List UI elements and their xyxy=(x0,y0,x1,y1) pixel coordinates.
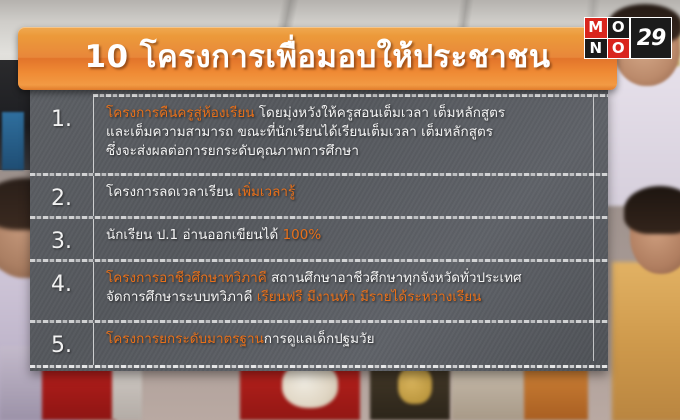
list-item-body: โครงการยกระดับมาตรฐานการดูแลเด็กปฐมวัย xyxy=(93,323,608,365)
highlight-text: โครงการคืนครูสู่ห้องเรียน xyxy=(106,105,255,121)
plain-text: และเต็มความสามารถ ขณะที่นักเรียนได้เรียน… xyxy=(106,124,493,140)
list-item-number: 5. xyxy=(30,323,93,358)
list-item-line: และเต็มความสามารถ ขณะที่นักเรียนได้เรียน… xyxy=(106,123,594,142)
page-title: 10 โครงการเพื่อมอบให้ประชาชน xyxy=(84,42,550,76)
list-item-line: โครงการอาชีวศึกษาทวิภาคี สถานศึกษาอาชีวศ… xyxy=(106,269,594,288)
background-blue-panel xyxy=(2,112,24,170)
plain-text: นักเรียน ป.1 อ่านออกเขียนได้ xyxy=(106,227,283,243)
list-item-number: 1. xyxy=(30,97,93,132)
panel-bottom-border xyxy=(30,365,608,368)
list-item: 1. โครงการคืนครูสู่ห้องเรียน โดยมุ่งหวัง… xyxy=(30,97,608,173)
list-item-number: 4. xyxy=(30,262,93,297)
highlight-text: 100% xyxy=(283,227,322,243)
list-item-body: โครงการอาชีวศึกษาทวิภาคี สถานศึกษาอาชีวศ… xyxy=(93,262,608,320)
highlight-text: โครงการยกระดับมาตรฐาน xyxy=(106,331,264,347)
plain-text: การดูแลเด็กปฐมวัย xyxy=(264,331,375,347)
logo-letter-m: M xyxy=(585,18,607,38)
highlight-text: เพิ่มเวลารู้ xyxy=(238,184,296,200)
list-item: 3. นักเรียน ป.1 อ่านออกเขียนได้ 100% xyxy=(30,219,608,259)
list-item: 4. โครงการอาชีวศึกษาทวิภาคี สถานศึกษาอาช… xyxy=(30,262,608,320)
list-item-body: โครงการคืนครูสู่ห้องเรียน โดยมุ่งหวังให้… xyxy=(93,97,608,173)
list-item-body: นักเรียน ป.1 อ่านออกเขียนได้ 100% xyxy=(93,219,608,259)
list-item-body: โครงการลดเวลาเรียน เพิ่มเวลารู้ xyxy=(93,176,608,216)
logo-letter-n: N xyxy=(585,39,607,59)
plain-text: จัดการศึกษาระบบทวิภาคี xyxy=(106,289,257,305)
logo-letter-o-bottom: O xyxy=(608,39,630,59)
highlight-text: โครงการอาชีวศึกษาทวิภาคี xyxy=(106,270,267,286)
headline-bar: 10 โครงการเพื่อมอบให้ประชาชน xyxy=(18,27,617,90)
background-child-right-lower-body xyxy=(612,262,680,420)
broadcast-screenshot: M O N O 29 10 โครงการเพื่อมอบให้ประชาชน … xyxy=(0,0,680,420)
panel-right-rule xyxy=(593,94,594,361)
highlight-text: เรียนฟรี มีงานทำ มีรายได้ระหว่างเรียน xyxy=(257,289,482,305)
plain-text: สถานศึกษาอาชีวศึกษาทุกจังหวัดทั่วประเทศ xyxy=(267,270,522,286)
plain-text: โดยมุ่งหวังให้ครูสอนเต็มเวลา เต็มหลักสูต… xyxy=(255,105,506,121)
list-panel: 1. โครงการคืนครูสู่ห้องเรียน โดยมุ่งหวัง… xyxy=(30,88,608,371)
list-item: 2. โครงการลดเวลาเรียน เพิ่มเวลารู้ xyxy=(30,176,608,216)
list-item-number: 3. xyxy=(30,219,93,254)
logo-letter-o-top: O xyxy=(608,18,630,38)
list-item-number: 2. xyxy=(30,176,93,211)
plain-text: โครงการลดเวลาเรียน xyxy=(106,184,238,200)
list-item-line: จัดการศึกษาระบบทวิภาคี เรียนฟรี มีงานทำ … xyxy=(106,288,594,307)
logo-channel-number: 29 xyxy=(630,17,672,59)
plain-text: ซึ่งจะส่งผลต่อการยกระดับคุณภาพการศึกษา xyxy=(106,143,359,159)
list-item-line: โครงการลดเวลาเรียน เพิ่มเวลารู้ xyxy=(106,183,594,202)
list-item-line: ซึ่งจะส่งผลต่อการยกระดับคุณภาพการศึกษา xyxy=(106,142,594,161)
list-item-line: โครงการคืนครูสู่ห้องเรียน โดยมุ่งหวังให้… xyxy=(106,104,594,123)
background-child-right-lower-hair xyxy=(624,186,680,234)
list-item-line: นักเรียน ป.1 อ่านออกเขียนได้ 100% xyxy=(106,226,594,245)
background-bottom-figure-7 xyxy=(398,366,432,404)
list-item-line: โครงการยกระดับมาตรฐานการดูแลเด็กปฐมวัย xyxy=(106,330,594,349)
list-item: 5. โครงการยกระดับมาตรฐานการดูแลเด็กปฐมวั… xyxy=(30,323,608,365)
channel-logo-mono29: M O N O 29 xyxy=(584,17,672,59)
logo-letter-grid: M O N O xyxy=(584,17,630,59)
